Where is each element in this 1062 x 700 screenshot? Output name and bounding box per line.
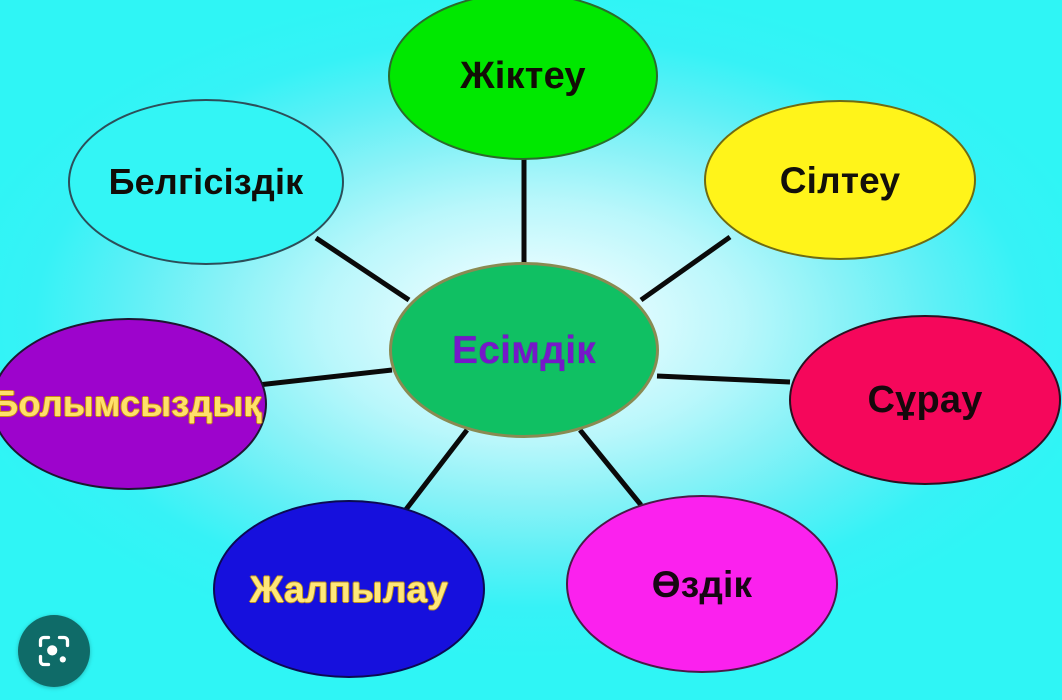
- node-esimdik-label: Есімдік: [452, 331, 596, 370]
- node-jikteu-label: Жіктеу: [460, 57, 586, 95]
- node-surau-label: Сұрау: [867, 381, 982, 419]
- node-ozdik-label: Өздік: [652, 566, 752, 603]
- connector-center-to-silteu: [641, 237, 730, 300]
- node-surau[interactable]: Сұрау: [789, 315, 1061, 485]
- node-belgisizdik-label: Белгісіздік: [109, 164, 304, 200]
- node-esimdik-center[interactable]: Есімдік: [389, 262, 659, 438]
- connector-center-to-bolymsyzdyq: [258, 370, 392, 385]
- google-lens-button[interactable]: [18, 615, 90, 687]
- node-silteu[interactable]: Сілтеу: [704, 100, 976, 260]
- node-silteu-label: Сілтеу: [780, 162, 901, 199]
- node-jalpylau-label: Жалпылау: [250, 571, 448, 608]
- google-lens-icon: [36, 633, 72, 669]
- node-jalpylau[interactable]: Жалпылау: [213, 500, 485, 678]
- node-jikteu[interactable]: Жіктеу: [388, 0, 658, 160]
- connector-center-to-jalpylau: [404, 430, 467, 512]
- node-bolymsyzdyq[interactable]: Болымсыздық: [0, 318, 267, 490]
- node-bolymsyzdyq-label: Болымсыздық: [0, 386, 262, 422]
- node-belgisizdik[interactable]: Белгісіздік: [68, 99, 344, 265]
- connector-center-to-surau: [657, 376, 790, 382]
- diagram-canvas: Жіктеу Белгісіздік Сілтеу Болымсыздық Сұ…: [0, 0, 1062, 700]
- connector-center-to-ozdik: [580, 430, 641, 505]
- node-ozdik[interactable]: Өздік: [566, 495, 838, 673]
- connector-center-to-belgisizdik: [316, 238, 409, 300]
